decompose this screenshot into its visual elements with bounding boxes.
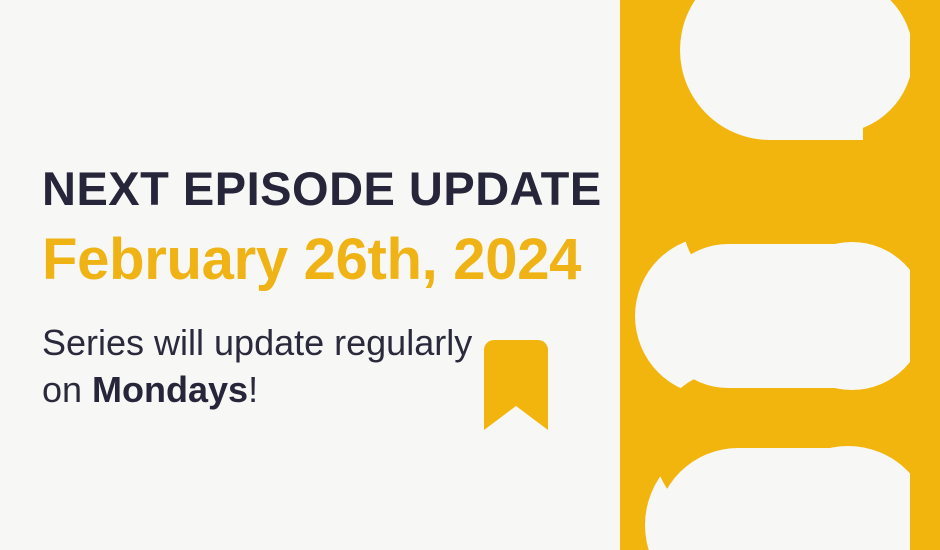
schedule-note: Series will update regularly on Mondays! xyxy=(42,319,512,414)
schedule-note-day: Mondays xyxy=(92,369,248,410)
next-episode-update-banner: NEXT EPISODE UPDATE February 26th, 2024 … xyxy=(0,0,940,550)
wave-circle-bite-bottom xyxy=(764,446,932,550)
schedule-note-suffix: ! xyxy=(248,369,258,410)
wave-circle-bite-top xyxy=(757,0,913,133)
bookmark-icon-svg xyxy=(484,340,548,430)
wave-cut-bottom xyxy=(645,440,940,550)
content-block: NEXT EPISODE UPDATE February 26th, 2024 … xyxy=(42,165,742,414)
page-title: NEXT EPISODE UPDATE xyxy=(42,165,742,212)
wave-right-edge xyxy=(910,0,940,550)
wave-cut-bottom-refine xyxy=(656,448,940,550)
wave-cut-top-refine xyxy=(695,0,940,140)
episode-date: February 26th, 2024 xyxy=(42,228,742,293)
bookmark-icon xyxy=(484,340,548,430)
bookmark-icon-shape xyxy=(484,340,548,430)
wave-right-band xyxy=(863,0,940,550)
wave-circle-bite-middle xyxy=(778,242,926,390)
wave-cut-top xyxy=(680,0,940,140)
